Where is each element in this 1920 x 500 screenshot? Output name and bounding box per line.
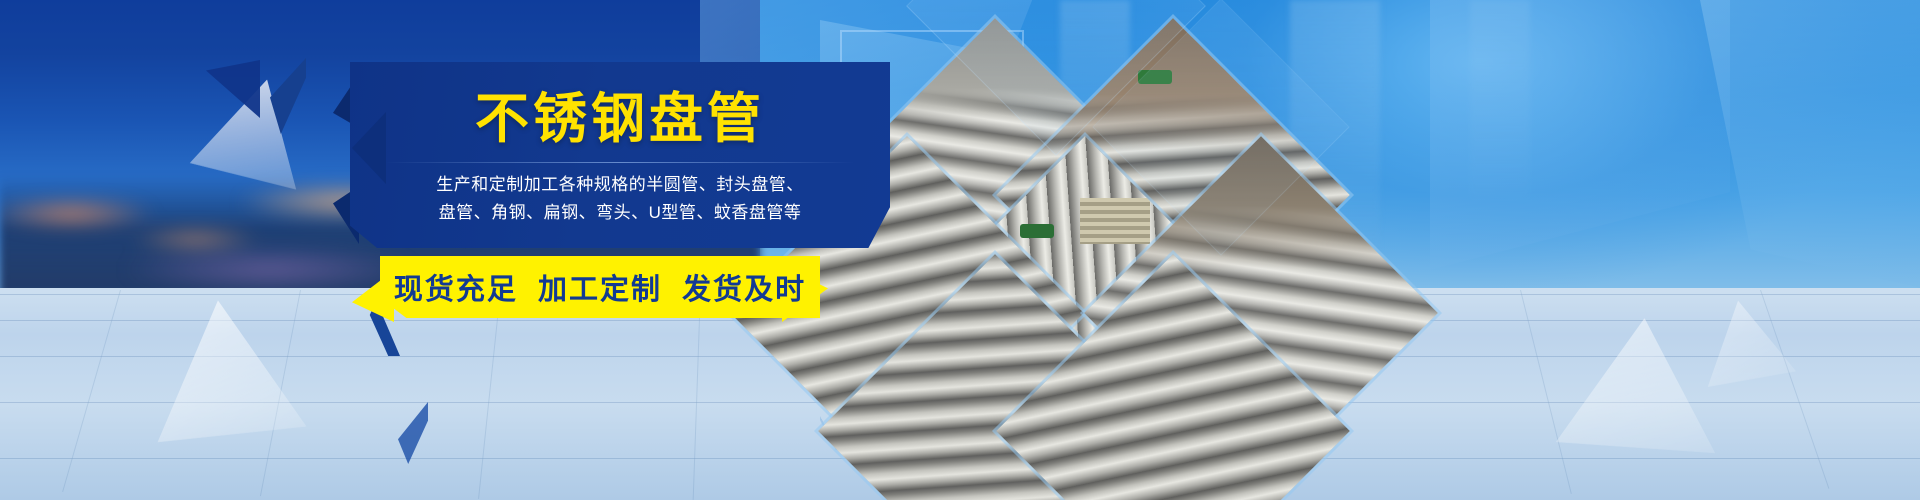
tagline-banner: 现货充足 加工定制 发货及时 xyxy=(352,256,820,318)
promo-banner: 不锈钢盘管 生产和定制加工各种规格的半圆管、封头盘管、 盘管、角钢、扁钢、弯头、… xyxy=(0,0,1920,500)
page-title: 不锈钢盘管 xyxy=(350,92,890,146)
title-divider xyxy=(385,162,855,163)
background-tower-c xyxy=(1470,0,1530,200)
headline-ribbon: 不锈钢盘管 生产和定制加工各种规格的半圆管、封头盘管、 盘管、角钢、扁钢、弯头、… xyxy=(350,62,890,248)
photo-green-marker xyxy=(1020,224,1054,238)
subtitle-line-2: 盘管、角钢、扁钢、弯头、U型管、蚊香盘管等 xyxy=(350,200,890,226)
photo-crate xyxy=(1080,198,1150,244)
photo-collage xyxy=(830,0,1470,500)
subtitle-line-1: 生产和定制加工各种规格的半圆管、封头盘管、 xyxy=(350,172,890,198)
headline-ribbon-content: 不锈钢盘管 生产和定制加工各种规格的半圆管、封头盘管、 盘管、角钢、扁钢、弯头、… xyxy=(350,62,890,248)
tagline-text: 现货充足 加工定制 发货及时 xyxy=(380,256,820,318)
